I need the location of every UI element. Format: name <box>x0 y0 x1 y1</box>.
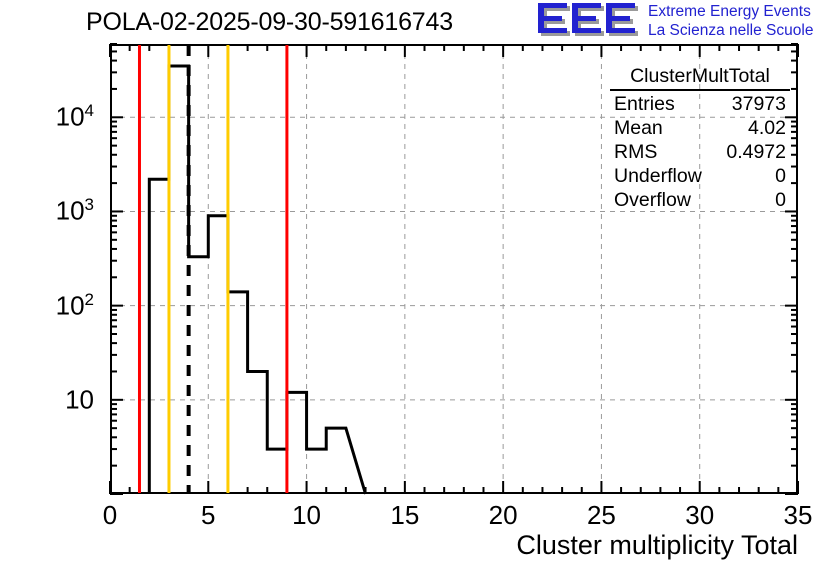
root-canvas: POLA-02-2025-09-30-591616743 <box>0 0 836 572</box>
x-tick-label: 25 <box>587 500 616 531</box>
eee-logo-line1: Extreme Energy Events <box>648 3 836 22</box>
y-tick-label: 102 <box>56 290 94 321</box>
x-tick-label: 5 <box>201 500 215 531</box>
stats-row: Mean4.02 <box>610 116 790 140</box>
stats-row: Underflow0 <box>610 164 790 188</box>
x-tick-label: 15 <box>390 500 419 531</box>
x-tick-label: 10 <box>292 500 321 531</box>
page-title: POLA-02-2025-09-30-591616743 <box>86 8 453 37</box>
eee-logo-text: Extreme Energy Events La Scienza nelle S… <box>648 3 836 41</box>
eee-logo-mark-icon <box>534 2 642 40</box>
eee-logo: Extreme Energy Events La Scienza nelle S… <box>534 2 834 42</box>
stats-row-key: Mean <box>610 116 663 140</box>
x-axis-title: Cluster multiplicity Total <box>516 530 798 561</box>
y-tick-label: 103 <box>56 196 94 227</box>
stats-row: Entries37973 <box>610 92 790 116</box>
stats-row-key: Overflow <box>610 188 691 212</box>
x-tick-label: 0 <box>103 500 117 531</box>
y-tick-label: 104 <box>56 102 94 133</box>
stats-box-title: ClusterMultTotal <box>610 64 790 91</box>
stats-row-key: Underflow <box>610 164 702 188</box>
stats-box: ClusterMultTotal Entries37973Mean4.02RMS… <box>610 64 790 212</box>
stats-row: Overflow0 <box>610 188 790 212</box>
stats-box-rows: Entries37973Mean4.02RMS0.4972Underflow0O… <box>610 92 790 212</box>
stats-row-value: 0 <box>775 188 790 212</box>
stats-row-value: 4.02 <box>748 116 790 140</box>
stats-row-key: RMS <box>610 140 657 164</box>
eee-logo-line2: La Scienza nelle Scuole <box>648 22 836 41</box>
stats-row-value: 0 <box>775 164 790 188</box>
stats-row-value: 37973 <box>732 92 790 116</box>
x-tick-label: 30 <box>685 500 714 531</box>
x-tick-label: 35 <box>784 500 813 531</box>
stats-row-key: Entries <box>610 92 675 116</box>
x-tick-label: 20 <box>489 500 518 531</box>
y-tick-label: 10 <box>65 384 94 415</box>
stats-row-value: 0.4972 <box>726 140 790 164</box>
stats-row: RMS0.4972 <box>610 140 790 164</box>
